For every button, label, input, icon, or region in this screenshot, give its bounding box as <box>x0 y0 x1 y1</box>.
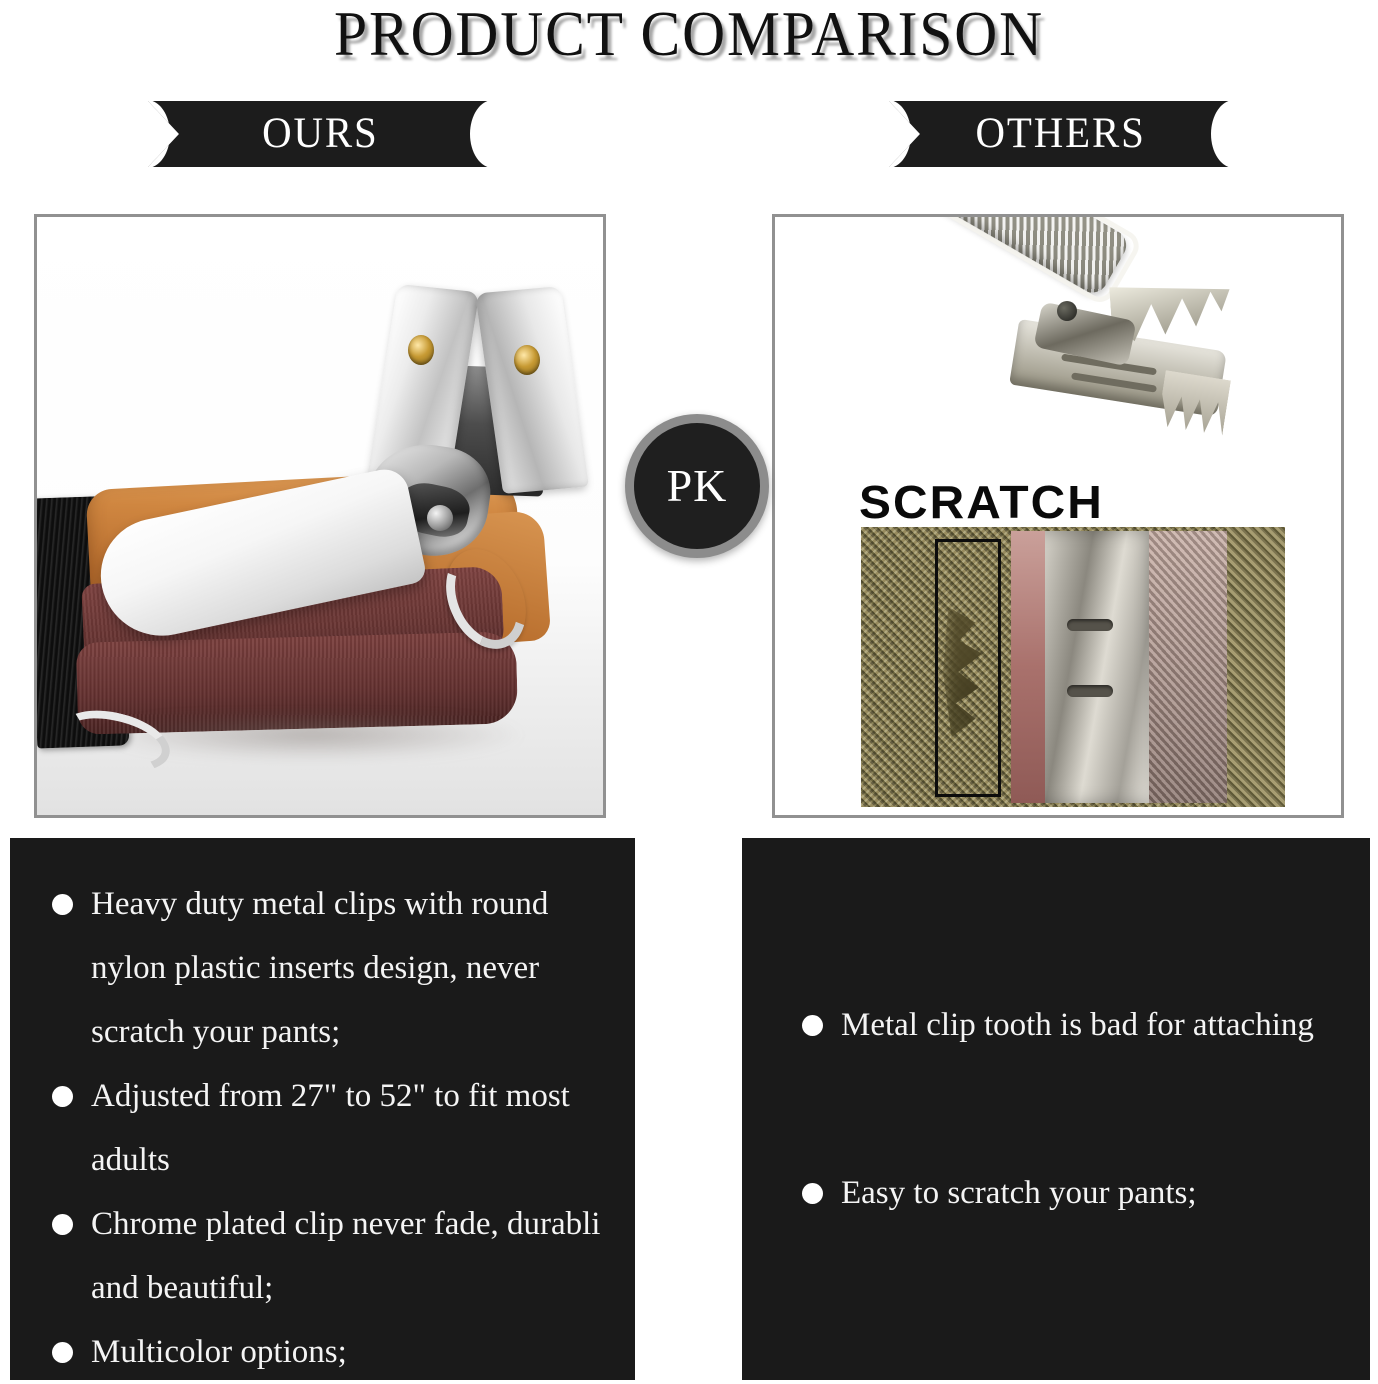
clip-pivot-screw-icon <box>1057 301 1077 321</box>
fabric-clip-pink-edge <box>1011 531 1045 803</box>
banner-others-label: OTHERS <box>976 101 1146 167</box>
banner-others: OTHERS <box>889 101 1233 167</box>
product-photo-ours <box>34 214 606 818</box>
versus-badge: PK <box>625 414 769 558</box>
fabric-clip-slot-upper <box>1067 619 1113 631</box>
list-item-label: Chrome plated clip never fade, durabli a… <box>91 1192 609 1320</box>
bullet-dot-icon <box>52 1214 73 1235</box>
list-item-label: Heavy duty metal clips with round nylon … <box>91 872 609 1064</box>
list-item: Adjusted from 27" to 52" to fit most adu… <box>36 1064 609 1192</box>
clip-pivot-screw-icon <box>427 505 453 531</box>
list-item: Heavy duty metal clips with round nylon … <box>36 872 609 1064</box>
features-panel-others: Metal clip tooth is bad for attaching Ea… <box>742 838 1370 1380</box>
banner-notch-left-icon <box>865 100 911 168</box>
features-list-others: Metal clip tooth is bad for attaching Ea… <box>768 991 1344 1227</box>
bullet-dot-icon <box>802 1015 823 1036</box>
list-item-label: Multicolor options; <box>91 1320 347 1384</box>
scratch-caption: SCRATCH <box>859 475 1104 529</box>
list-item-label: Metal clip tooth is bad for attaching <box>841 991 1314 1059</box>
page-title: PRODUCT COMPARISON <box>48 0 1330 70</box>
features-panel-ours: Heavy duty metal clips with round nylon … <box>10 838 635 1380</box>
scratch-highlight-box <box>935 539 1001 797</box>
list-item-label: Adjusted from 27" to 52" to fit most adu… <box>91 1064 609 1192</box>
scratched-fabric-closeup <box>861 527 1285 807</box>
clip-upper-jaw-edge <box>898 214 1145 308</box>
list-item: Multicolor options; <box>36 1320 609 1384</box>
fabric-clip-slot-lower <box>1067 685 1113 697</box>
clip-teeth-lower-icon <box>1157 370 1231 436</box>
banner-others-inner: OTHERS <box>889 101 1233 167</box>
banner-ours-inner: OURS <box>148 101 492 167</box>
brass-rivet-right-icon <box>514 345 540 375</box>
banner-notch-right-icon <box>470 100 516 168</box>
banner-ours: OURS <box>148 101 492 167</box>
list-item: Easy to scratch your pants; <box>768 1159 1344 1227</box>
bullet-dot-icon <box>52 1086 73 1107</box>
product-photo-others: SCRATCH <box>772 214 1344 818</box>
fabric-far-right-weave <box>1227 527 1285 807</box>
features-list-ours: Heavy duty metal clips with round nylon … <box>36 872 609 1384</box>
fabric-right-strap <box>1149 531 1229 803</box>
brass-rivet-left-icon <box>408 335 434 365</box>
banner-notch-left-icon <box>124 100 170 168</box>
bullet-dot-icon <box>802 1183 823 1204</box>
list-item: Chrome plated clip never fade, durabli a… <box>36 1192 609 1320</box>
banner-notch-right-icon <box>1211 100 1257 168</box>
banner-ours-label: OURS <box>262 101 379 167</box>
bullet-dot-icon <box>52 1342 73 1363</box>
list-item-label: Easy to scratch your pants; <box>841 1159 1197 1227</box>
list-item: Metal clip tooth is bad for attaching <box>768 991 1344 1059</box>
toothed-metal-clip <box>861 223 1261 453</box>
bullet-dot-icon <box>52 894 73 915</box>
versus-badge-label: PK <box>667 463 728 509</box>
